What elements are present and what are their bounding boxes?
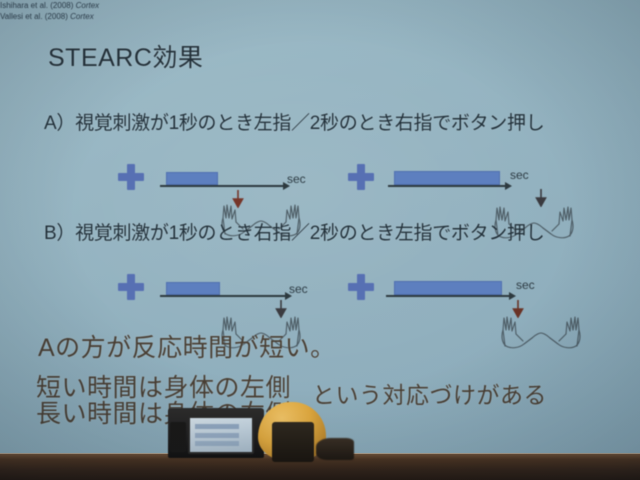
dark-object (316, 438, 354, 460)
stimulus-bar-icon (394, 281, 502, 295)
slide-content: STEARC効果 Ishihara et al. (2008) Cortex V… (0, 0, 640, 480)
citation-authors: Ishihara et al. (2008) (0, 1, 73, 10)
citation-journal: Cortex (70, 12, 94, 21)
condition-a-label: A）視覚刺激が1秒のとき左指／2秒のとき右指でボタン押し (44, 108, 544, 135)
arrowhead-icon (505, 182, 512, 190)
conclusion-line-1: Aの方が反応時間が短い。 (38, 328, 336, 364)
arrowhead-icon (509, 292, 516, 300)
citation-line: Ishihara et al. (2008) Cortex (0, 0, 640, 11)
citation-line: Vallesi et al. (2008) Cortex (0, 11, 640, 22)
camcorder-grip (170, 422, 186, 452)
down-arrow-icon (275, 300, 287, 318)
plus-cross-icon (118, 164, 144, 190)
conclusion-line-4: という対応づけがある (312, 376, 547, 410)
timeline-arrow-icon (386, 295, 510, 297)
condition-b-label: B）視覚刺激が1秒のとき右指／2秒のとき左指でボタン押し (44, 218, 544, 245)
timeline-arrow-icon (160, 295, 286, 297)
citation-block: Ishihara et al. (2008) Cortex Vallesi et… (0, 0, 640, 22)
orange-equipment-front-panel (272, 422, 314, 462)
sec-label: sec (510, 168, 529, 182)
camcorder (168, 408, 264, 458)
sec-label: sec (516, 278, 535, 292)
citation-authors: Vallesi et al. (2008) (0, 12, 68, 21)
stimulus-bar-icon (166, 282, 220, 295)
plus-cross-icon (348, 274, 374, 300)
slide-title: STEARC効果 (48, 38, 203, 74)
stimulus-bar-icon (166, 172, 218, 185)
timeline-arrow-icon (388, 185, 506, 187)
plus-cross-icon (348, 164, 374, 190)
down-arrow-icon (512, 300, 524, 318)
sec-label: sec (287, 172, 306, 186)
photo-of-projected-slide: STEARC効果 Ishihara et al. (2008) Cortex V… (0, 0, 640, 480)
plus-cross-icon (118, 274, 144, 300)
citation-journal: Cortex (76, 1, 100, 10)
timeline-arrow-icon (160, 185, 284, 187)
sec-label: sec (289, 282, 308, 296)
down-arrow-icon (232, 190, 244, 208)
down-arrow-icon (535, 189, 547, 207)
stimulus-bar-icon (394, 171, 500, 185)
camcorder-lcd-screen (188, 416, 254, 454)
